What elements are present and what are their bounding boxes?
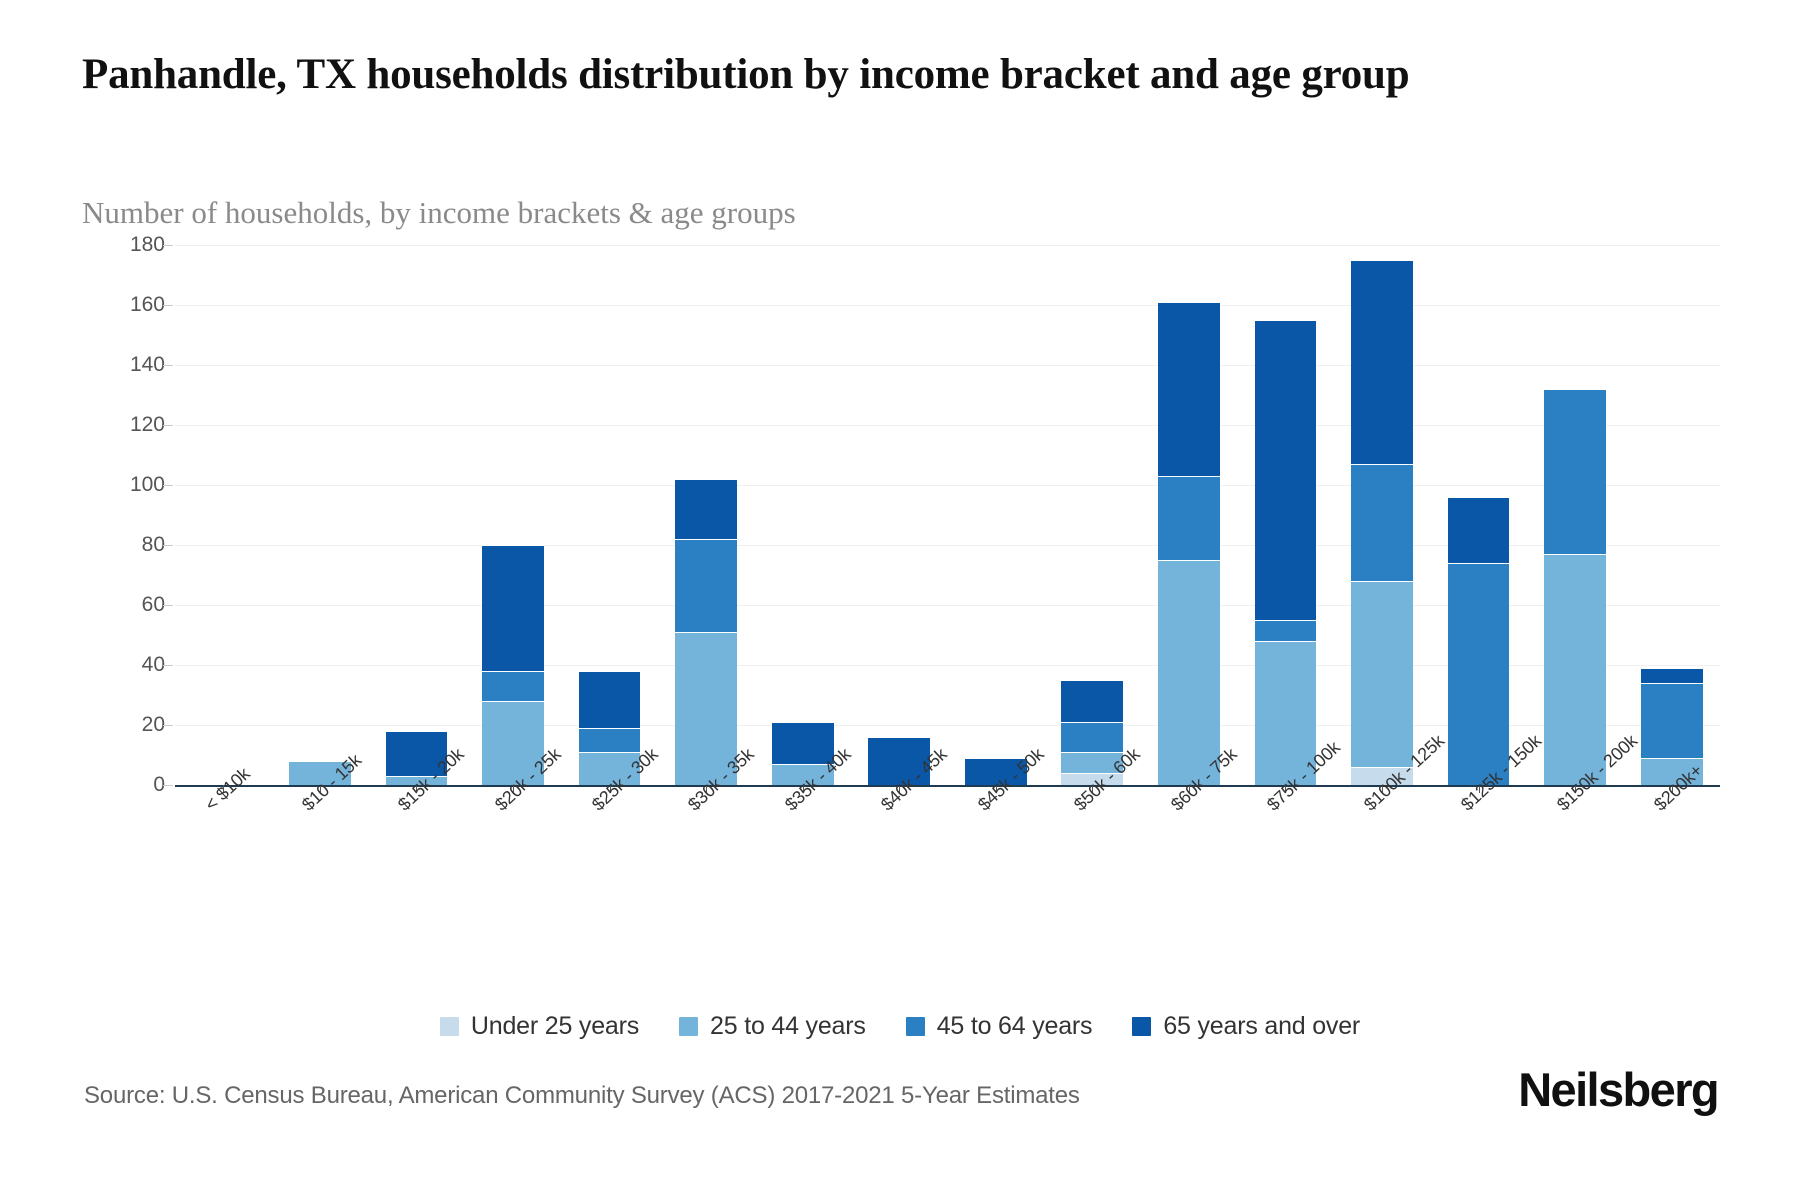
chart-legend: Under 25 years25 to 44 years45 to 64 yea… [0, 1012, 1800, 1041]
y-axis-tick-mark [163, 725, 173, 726]
bar-segment[interactable] [675, 479, 737, 539]
bar-group[interactable] [1255, 245, 1317, 785]
y-axis-tick-mark [163, 665, 173, 666]
bar-segment[interactable] [482, 671, 544, 701]
bar-segment[interactable] [1351, 464, 1413, 581]
y-axis-tick-mark [163, 545, 173, 546]
bar-segment[interactable] [1061, 680, 1123, 722]
bar-group[interactable] [1544, 245, 1606, 785]
legend-label: 45 to 64 years [937, 1012, 1093, 1041]
y-axis-tick-mark [163, 785, 173, 786]
bar-group[interactable] [579, 245, 641, 785]
bar-segment[interactable] [1544, 554, 1606, 785]
y-axis-tick-mark [163, 605, 173, 606]
bar-group[interactable] [868, 245, 930, 785]
legend-swatch-icon [440, 1017, 459, 1036]
bar-segment[interactable] [579, 728, 641, 752]
y-axis-tick-mark [163, 425, 173, 426]
y-axis-tick-label: 0 [85, 773, 165, 797]
y-axis-tick-label: 40 [85, 653, 165, 677]
bar-group[interactable] [965, 245, 1027, 785]
bar-segment[interactable] [1544, 389, 1606, 554]
bar-segment[interactable] [1255, 320, 1317, 620]
bar-segment[interactable] [1448, 497, 1510, 563]
legend-item[interactable]: 25 to 44 years [679, 1012, 866, 1041]
bar-segment[interactable] [1351, 260, 1413, 464]
y-axis-tick-mark [163, 485, 173, 486]
y-axis-tick-label: 160 [85, 293, 165, 317]
bar-group[interactable] [772, 245, 834, 785]
bar-group[interactable] [289, 245, 351, 785]
legend-item[interactable]: 65 years and over [1132, 1012, 1360, 1041]
bar-segment[interactable] [1641, 683, 1703, 758]
bar-group[interactable] [1158, 245, 1220, 785]
bar-group[interactable] [192, 245, 254, 785]
y-axis-tick-label: 60 [85, 593, 165, 617]
source-note: Source: U.S. Census Bureau, American Com… [84, 1082, 1080, 1110]
y-axis-tick-mark [163, 305, 173, 306]
bar-segment[interactable] [1158, 560, 1220, 785]
bar-segment[interactable] [1448, 563, 1510, 785]
bar-segment[interactable] [579, 671, 641, 728]
legend-label: 25 to 44 years [710, 1012, 866, 1041]
bar-segment[interactable] [1061, 722, 1123, 752]
legend-label: Under 25 years [471, 1012, 639, 1041]
bar-segment[interactable] [482, 545, 544, 671]
y-axis-tick-label: 140 [85, 353, 165, 377]
y-axis-tick-mark [163, 245, 173, 246]
bar-group[interactable] [675, 245, 737, 785]
y-axis-tick-mark [163, 365, 173, 366]
bar-group[interactable] [386, 245, 448, 785]
legend-item[interactable]: 45 to 64 years [906, 1012, 1093, 1041]
bar-segment[interactable] [772, 722, 834, 764]
bar-group[interactable] [1448, 245, 1510, 785]
y-axis-tick-label: 20 [85, 713, 165, 737]
y-axis-tick-label: 80 [85, 533, 165, 557]
y-axis-tick-label: 180 [85, 233, 165, 257]
bar-group[interactable] [482, 245, 544, 785]
page-title: Panhandle, TX households distribution by… [82, 48, 1642, 102]
bar-segment[interactable] [1158, 302, 1220, 476]
legend-label: 65 years and over [1163, 1012, 1360, 1041]
legend-swatch-icon [906, 1017, 925, 1036]
bar-segment[interactable] [1255, 620, 1317, 641]
bar-group[interactable] [1061, 245, 1123, 785]
bar-segment[interactable] [675, 539, 737, 632]
y-axis-tick-label: 120 [85, 413, 165, 437]
brand-logo: Neilsberg [1518, 1062, 1718, 1117]
legend-item[interactable]: Under 25 years [440, 1012, 639, 1041]
legend-swatch-icon [1132, 1017, 1151, 1036]
legend-swatch-icon [679, 1017, 698, 1036]
bar-segment[interactable] [1158, 476, 1220, 560]
bar-group[interactable] [1641, 245, 1703, 785]
y-axis-tick-label: 100 [85, 473, 165, 497]
bar-segment[interactable] [1641, 668, 1703, 683]
chart-subtitle: Number of households, by income brackets… [82, 195, 1482, 231]
bars-layer [175, 245, 1720, 785]
bar-group[interactable] [1351, 245, 1413, 785]
bar-segment[interactable] [1351, 581, 1413, 767]
